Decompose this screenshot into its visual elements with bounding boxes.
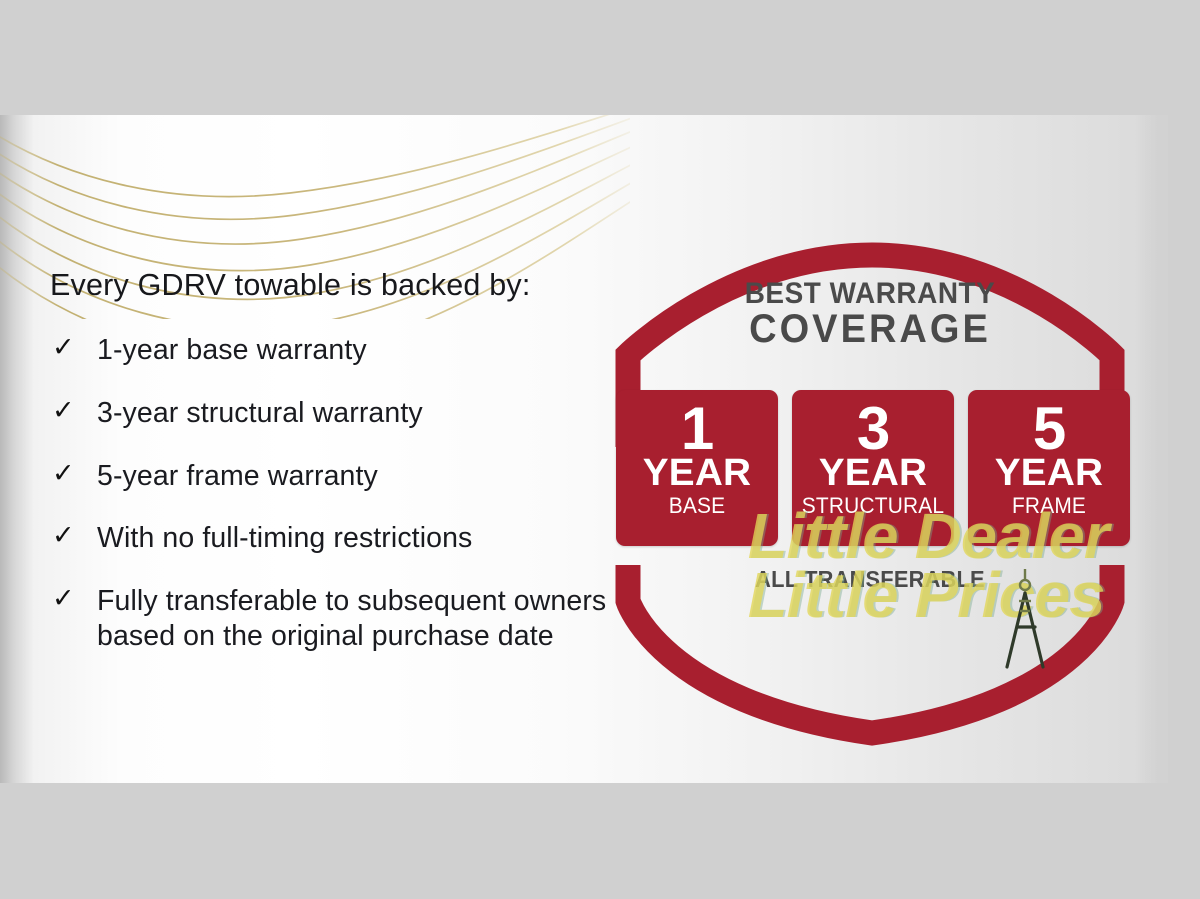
year-box-number: 3	[792, 390, 954, 456]
list-item: ✓ 3-year structural warranty	[50, 396, 650, 431]
year-box-frame: 5 YEAR FRAME	[968, 390, 1130, 546]
check-icon: ✓	[52, 519, 75, 553]
list-item-label: 5-year frame warranty	[97, 460, 378, 492]
year-box-structural: 3 YEAR STRUCTURAL	[792, 390, 954, 546]
list-item: ✓ With no full-timing restrictions	[50, 521, 650, 556]
badge-title: BEST WARRANTY COVERAGE	[600, 277, 1140, 352]
list-item: ✓ Fully transferable to subsequent owner…	[50, 584, 650, 654]
best-warranty-coverage-badge: BEST WARRANTY COVERAGE 1 YEAR BASE 3 YEA…	[600, 235, 1140, 755]
badge-title-line1: BEST WARRANTY	[619, 277, 1121, 311]
check-icon: ✓	[52, 457, 75, 491]
all-transferable-label: ALL TRANSFERABLE	[614, 566, 1127, 593]
list-item: ✓ 1-year base warranty	[50, 333, 650, 368]
list-item-label: 3-year structural warranty	[97, 397, 423, 429]
year-box-kind: FRAME	[972, 494, 1126, 518]
slide-content: Every GDRV towable is backed by: ✓ 1-yea…	[0, 115, 1168, 783]
slide-screen: Every GDRV towable is backed by: ✓ 1-yea…	[0, 0, 1200, 899]
year-box-kind: STRUCTURAL	[796, 494, 950, 518]
list-item-label: With no full-timing restrictions	[97, 522, 472, 554]
year-box-unit: YEAR	[966, 456, 1131, 491]
badge-title-line2: COVERAGE	[614, 307, 1127, 352]
check-icon: ✓	[52, 582, 75, 616]
year-box-unit: YEAR	[614, 456, 779, 491]
list-item: ✓ 5-year frame warranty	[50, 459, 650, 494]
year-box-unit: YEAR	[790, 456, 955, 491]
warranty-bullet-list: ✓ 1-year base warranty ✓ 3-year structur…	[50, 333, 650, 654]
page-title: Every GDRV towable is backed by:	[50, 268, 650, 303]
warranty-copy-block: Every GDRV towable is backed by: ✓ 1-yea…	[50, 268, 650, 682]
check-icon: ✓	[52, 394, 75, 428]
list-item-label: Fully transferable to subsequent owners …	[97, 585, 606, 652]
year-box-group: 1 YEAR BASE 3 YEAR STRUCTURAL 5 YEAR FRA…	[616, 390, 1168, 546]
list-item-label: 1-year base warranty	[97, 334, 367, 366]
year-box-number: 5	[968, 390, 1130, 456]
year-box-base: 1 YEAR BASE	[616, 390, 778, 546]
year-box-number: 1	[616, 390, 778, 456]
check-icon: ✓	[52, 331, 75, 365]
year-box-kind: BASE	[620, 494, 774, 518]
